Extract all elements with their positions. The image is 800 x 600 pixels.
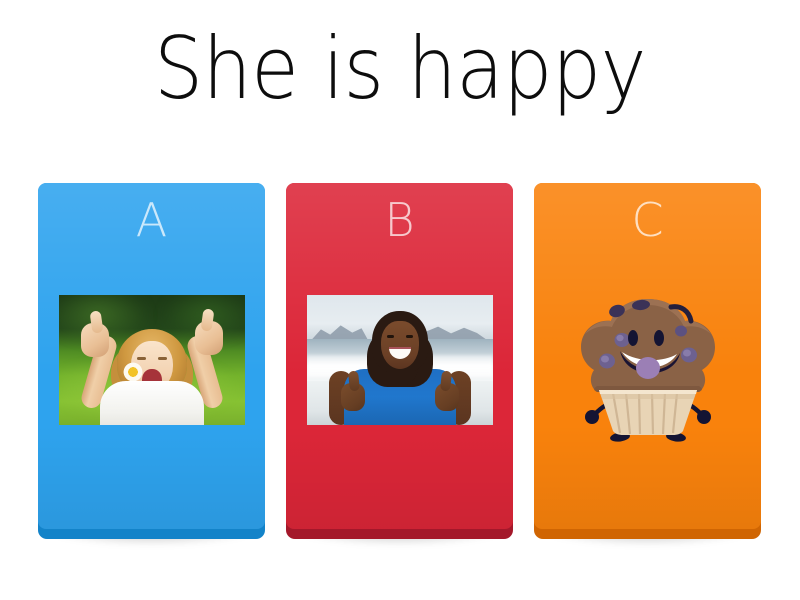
man-face [381,321,419,369]
muffin-hand-left [585,410,599,424]
girl-white-shirt [100,381,204,425]
man-thumb-left [347,371,359,392]
answer-letter-b: B [286,197,513,243]
muffin-tongue [636,357,660,379]
mountain-range-left [311,321,369,341]
man-thumb-right [439,371,451,392]
answer-card-a[interactable]: A [38,183,265,539]
illustration-smiling-muffin [563,283,733,453]
answer-card-c[interactable]: C [534,183,761,539]
girl-eye-right [158,357,167,360]
answer-letter-a: A [38,197,265,243]
photo-man-thumbs-up-beach [307,295,493,425]
man-eye-left [387,335,394,338]
answer-card-b[interactable]: B [286,183,513,539]
question-title: She is happy [40,24,760,114]
photo-girl-thumbs-up [59,295,245,425]
muffin-liner [599,390,697,435]
man-eye-right [406,335,413,338]
answer-letter-c: C [534,197,761,243]
answer-options-row: A [0,180,800,560]
muffin-hand-right [697,410,711,424]
